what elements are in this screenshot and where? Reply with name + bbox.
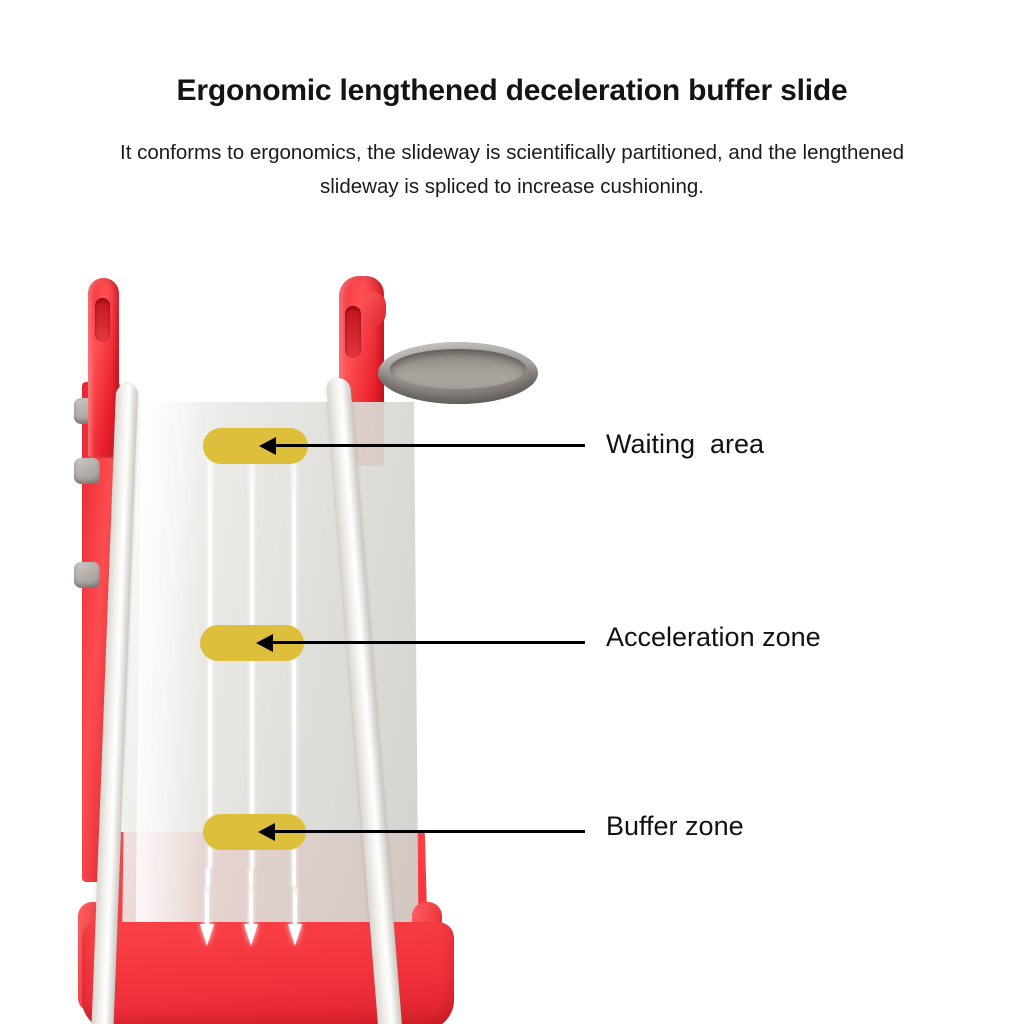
leader-arrowhead-acceleration — [256, 634, 273, 652]
leader-arrowhead-waiting — [259, 437, 276, 455]
leader-arrowhead-buffer — [258, 823, 275, 841]
leader-line-buffer — [274, 830, 585, 833]
right-post-bump — [360, 292, 386, 326]
page-subtitle: It conforms to ergonomics, the slideway … — [88, 136, 936, 204]
callout-label-acceleration: Acceleration zone — [606, 624, 821, 651]
guide-arrowhead — [200, 924, 214, 946]
basketball-hoop — [378, 342, 538, 404]
page-title: Ergonomic lengthened deceleration buffer… — [0, 74, 1024, 108]
callout-label-buffer: Buffer zone — [606, 813, 744, 840]
infographic-page: Ergonomic lengthened deceleration buffer… — [0, 0, 1024, 1024]
guide-arrowhead — [244, 924, 258, 946]
guide-line — [206, 868, 210, 886]
product-photo — [60, 262, 580, 992]
right-post-handhold — [345, 306, 361, 358]
guide-line — [292, 868, 296, 886]
callout-label-waiting: Waiting area — [606, 431, 764, 458]
leader-line-waiting — [275, 444, 585, 447]
leader-line-acceleration — [272, 641, 585, 644]
step-nub — [74, 458, 100, 484]
step-nub — [74, 562, 100, 588]
hoop-opening — [390, 349, 526, 389]
guide-line — [249, 868, 253, 886]
guide-arrowhead — [288, 924, 302, 946]
left-post-handhold — [95, 298, 110, 342]
